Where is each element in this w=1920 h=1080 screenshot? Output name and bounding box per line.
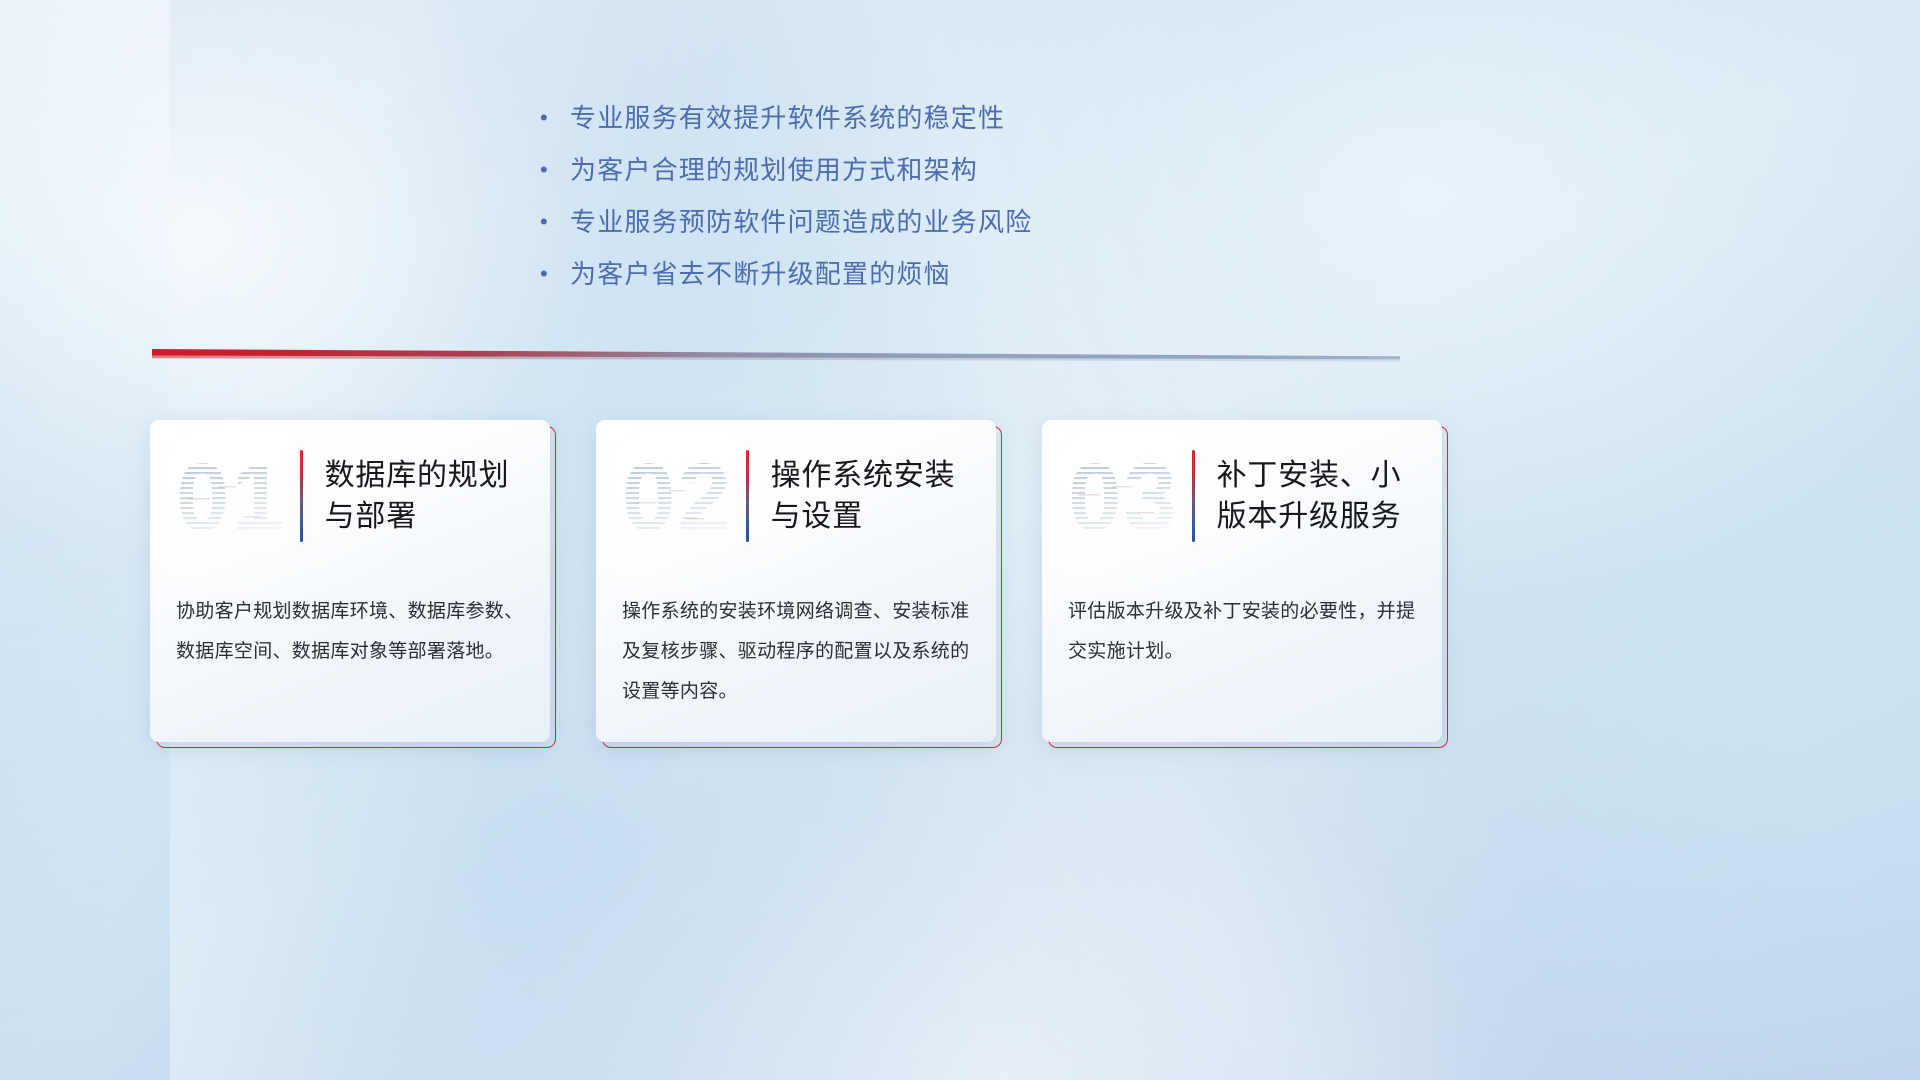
card-surface: 03 补丁安装、小版本升级服务 评估版本升级及补丁安装的必要性，并提交实施计划。 [1042, 420, 1442, 742]
service-card[interactable]: 02 操作系统安装与设置 操作系统的安装环境网络调查、安装标准及复核步骤、驱动程… [596, 420, 996, 742]
card-title-rule [1192, 450, 1195, 542]
card-header: 03 补丁安装、小版本升级服务 [1042, 420, 1442, 572]
card-surface: 01 数据库的规划与部署 协助客户规划数据库环境、数据库参数、数据库空间、数据库… [150, 420, 550, 742]
bullet-item: • 为客户省去不断升级配置的烦恼 [540, 248, 1160, 300]
card-number-watermark: 03 [1066, 442, 1184, 550]
svg-text:03: 03 [1068, 444, 1179, 550]
card-header: 02 操作系统安装与设置 [596, 420, 996, 572]
bullet-marker-icon: • [540, 144, 570, 196]
bullet-marker-icon: • [540, 92, 570, 144]
card-title: 补丁安装、小版本升级服务 [1217, 455, 1427, 537]
card-surface: 02 操作系统安装与设置 操作系统的安装环境网络调查、安装标准及复核步骤、驱动程… [596, 420, 996, 742]
bullet-text: 为客户省去不断升级配置的烦恼 [570, 248, 951, 300]
card-description: 评估版本升级及补丁安装的必要性，并提交实施计划。 [1042, 572, 1442, 672]
service-card[interactable]: 01 数据库的规划与部署 协助客户规划数据库环境、数据库参数、数据库空间、数据库… [150, 420, 550, 742]
card-title-rule [300, 450, 303, 542]
bullet-list: • 专业服务有效提升软件系统的稳定性 • 为客户合理的规划使用方式和架构 • 专… [540, 92, 1160, 300]
slide-canvas: • 专业服务有效提升软件系统的稳定性 • 为客户合理的规划使用方式和架构 • 专… [0, 0, 1920, 1080]
card-description: 操作系统的安装环境网络调查、安装标准及复核步骤、驱动程序的配置以及系统的设置等内… [596, 572, 996, 712]
card-description: 协助客户规划数据库环境、数据库参数、数据库空间、数据库对象等部署落地。 [150, 572, 550, 672]
bullet-text: 专业服务预防软件问题造成的业务风险 [570, 196, 1032, 248]
bullet-marker-icon: • [540, 196, 570, 248]
card-header: 01 数据库的规划与部署 [150, 420, 550, 572]
bullet-marker-icon: • [540, 248, 570, 300]
svg-text:01: 01 [176, 444, 287, 550]
service-card[interactable]: 03 补丁安装、小版本升级服务 评估版本升级及补丁安装的必要性，并提交实施计划。 [1042, 420, 1442, 742]
bullet-item: • 专业服务有效提升软件系统的稳定性 [540, 92, 1160, 144]
bullet-text: 为客户合理的规划使用方式和架构 [570, 144, 978, 196]
service-card-row: 01 数据库的规划与部署 协助客户规划数据库环境、数据库参数、数据库空间、数据库… [150, 420, 1770, 750]
bullet-text: 专业服务有效提升软件系统的稳定性 [570, 92, 1005, 144]
bullet-item: • 专业服务预防软件问题造成的业务风险 [540, 196, 1160, 248]
svg-text:02: 02 [622, 444, 733, 550]
card-title: 操作系统安装与设置 [771, 455, 981, 537]
accent-divider-line [152, 349, 1400, 362]
card-number-watermark: 02 [620, 442, 738, 550]
card-title: 数据库的规划与部署 [325, 455, 535, 537]
bullet-item: • 为客户合理的规划使用方式和架构 [540, 144, 1160, 196]
card-number-watermark: 01 [174, 442, 292, 550]
card-title-rule [746, 450, 749, 542]
